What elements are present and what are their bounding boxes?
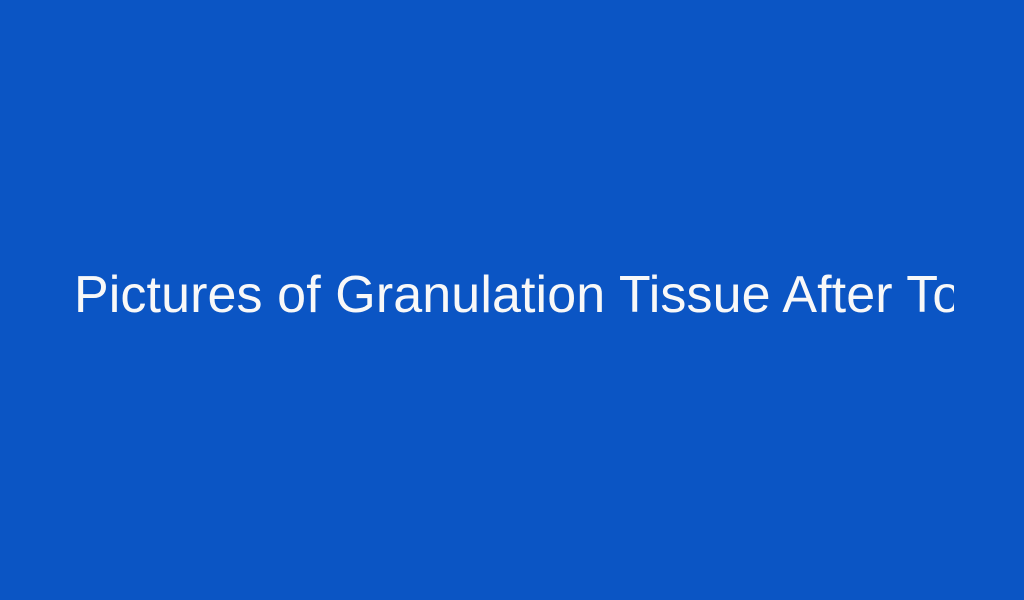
title-block: Pictures of Granulation Tissue After Too… xyxy=(0,266,1024,324)
page-title: Pictures of Granulation Tissue After Too… xyxy=(74,266,954,324)
hero-title-card: Pictures of Granulation Tissue After Too… xyxy=(0,0,1024,600)
